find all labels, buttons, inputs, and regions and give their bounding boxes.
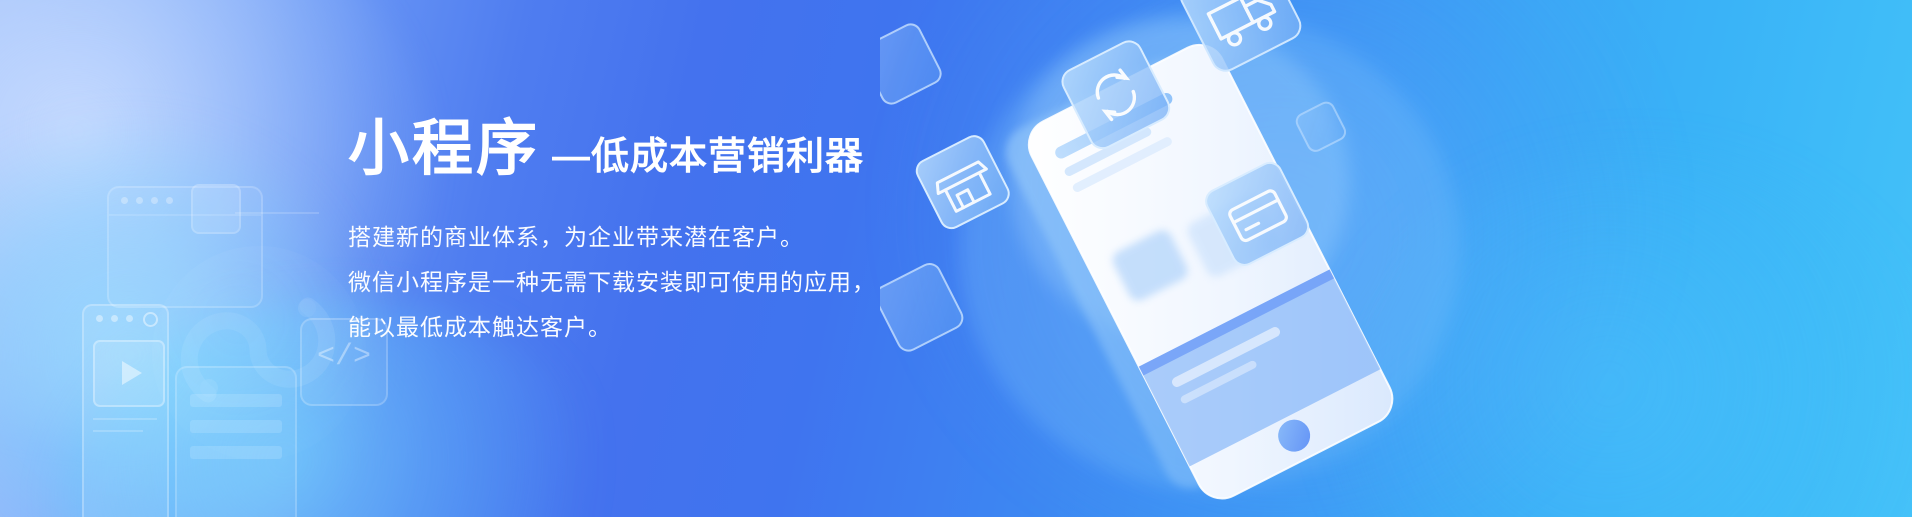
description-line: 搭建新的商业体系，为企业带来潜在客户。 (348, 215, 948, 260)
description-line: 微信小程序是一种无需下载安装即可使用的应用， (348, 260, 948, 305)
browser-window-main-icon (82, 304, 169, 517)
window-dots-icon (96, 315, 133, 322)
headline-main: 小程序 (348, 118, 540, 179)
square-tile-icon (191, 184, 241, 234)
gear-icon (143, 312, 158, 327)
window-titlebar (109, 188, 261, 216)
wechat-miniprogram-logo-icon (146, 236, 370, 460)
play-triangle-icon (122, 361, 142, 385)
headline-sub: —低成本营销利器 (552, 138, 864, 179)
glow-right (1330, 150, 1912, 517)
divider-line (235, 212, 319, 214)
text-line (93, 418, 157, 420)
promo-banner: </> 小程序 —低成本营销利器 搭建新的商业体系，为企业带来潜在客户。 微信小… (0, 0, 1912, 517)
banner-description: 搭建新的商业体系，为企业带来潜在客户。 微信小程序是一种无需下载安装即可使用的应… (348, 215, 948, 350)
window-dots-icon (121, 197, 173, 204)
banner-copy: 小程序 —低成本营销利器 搭建新的商业体系，为企业带来潜在客户。 微信小程序是一… (348, 118, 948, 350)
hero-illustration (880, 0, 1912, 517)
play-button-icon (93, 340, 165, 407)
text-line (93, 430, 143, 432)
description-line: 能以最低成本触达客户。 (348, 305, 948, 350)
page-title: 小程序 —低成本营销利器 (348, 118, 948, 179)
glow-center (900, 0, 1660, 517)
list-card-icon (175, 366, 297, 517)
logo-disc (152, 246, 366, 460)
browser-window-icon (107, 186, 263, 308)
glow-mid-left (0, 120, 390, 517)
window-titlebar (84, 306, 167, 328)
